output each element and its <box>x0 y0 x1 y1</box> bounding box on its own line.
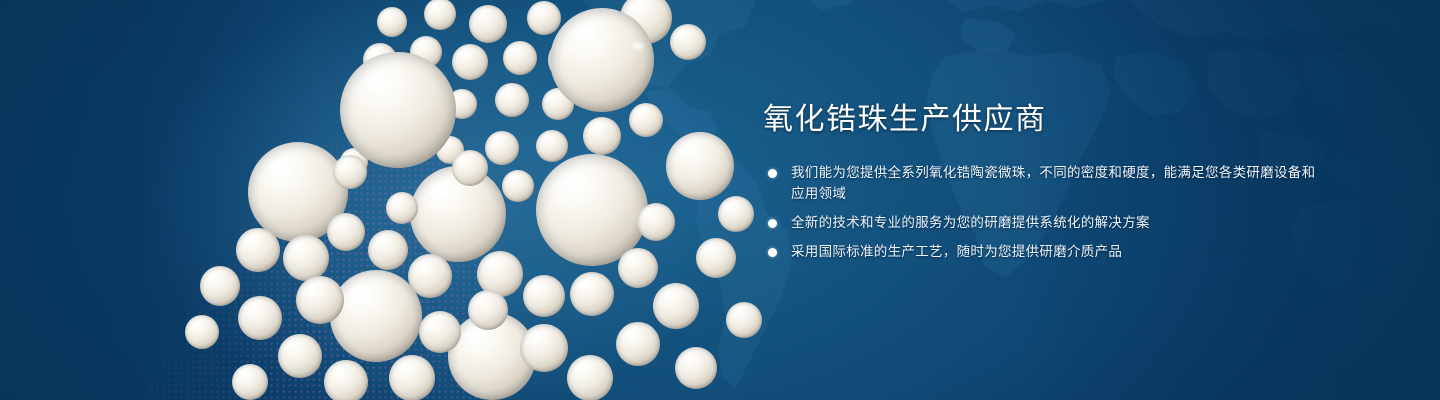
zirconia-beads-image <box>140 0 760 400</box>
banner-copy: 氧化锆珠生产供应商 我们能为您提供全系列氧化锆陶瓷微珠，不同的密度和硬度，能满足… <box>763 104 1323 263</box>
bullet-dot-icon <box>768 219 777 228</box>
list-item: 采用国际标准的生产工艺，随时为您提供研磨介质产品 <box>763 241 1323 263</box>
page-title: 氧化锆珠生产供应商 <box>763 104 1323 136</box>
hero-banner: 氧化锆珠生产供应商 我们能为您提供全系列氧化锆陶瓷微珠，不同的密度和硬度，能满足… <box>0 0 1440 400</box>
list-item-text: 采用国际标准的生产工艺，随时为您提供研磨介质产品 <box>791 244 1122 259</box>
list-item-text: 我们能为您提供全系列氧化锆陶瓷微珠，不同的密度和硬度，能满足您各类研磨设备和应用… <box>791 165 1315 202</box>
list-item-text: 全新的技术和专业的服务为您的研磨提供系统化的解决方案 <box>791 215 1150 230</box>
feature-list: 我们能为您提供全系列氧化锆陶瓷微珠，不同的密度和硬度，能满足您各类研磨设备和应用… <box>763 162 1323 263</box>
bullet-dot-icon <box>768 169 777 178</box>
list-item: 我们能为您提供全系列氧化锆陶瓷微珠，不同的密度和硬度，能满足您各类研磨设备和应用… <box>763 162 1323 206</box>
bullet-dot-icon <box>768 248 777 257</box>
list-item: 全新的技术和专业的服务为您的研磨提供系统化的解决方案 <box>763 212 1323 234</box>
